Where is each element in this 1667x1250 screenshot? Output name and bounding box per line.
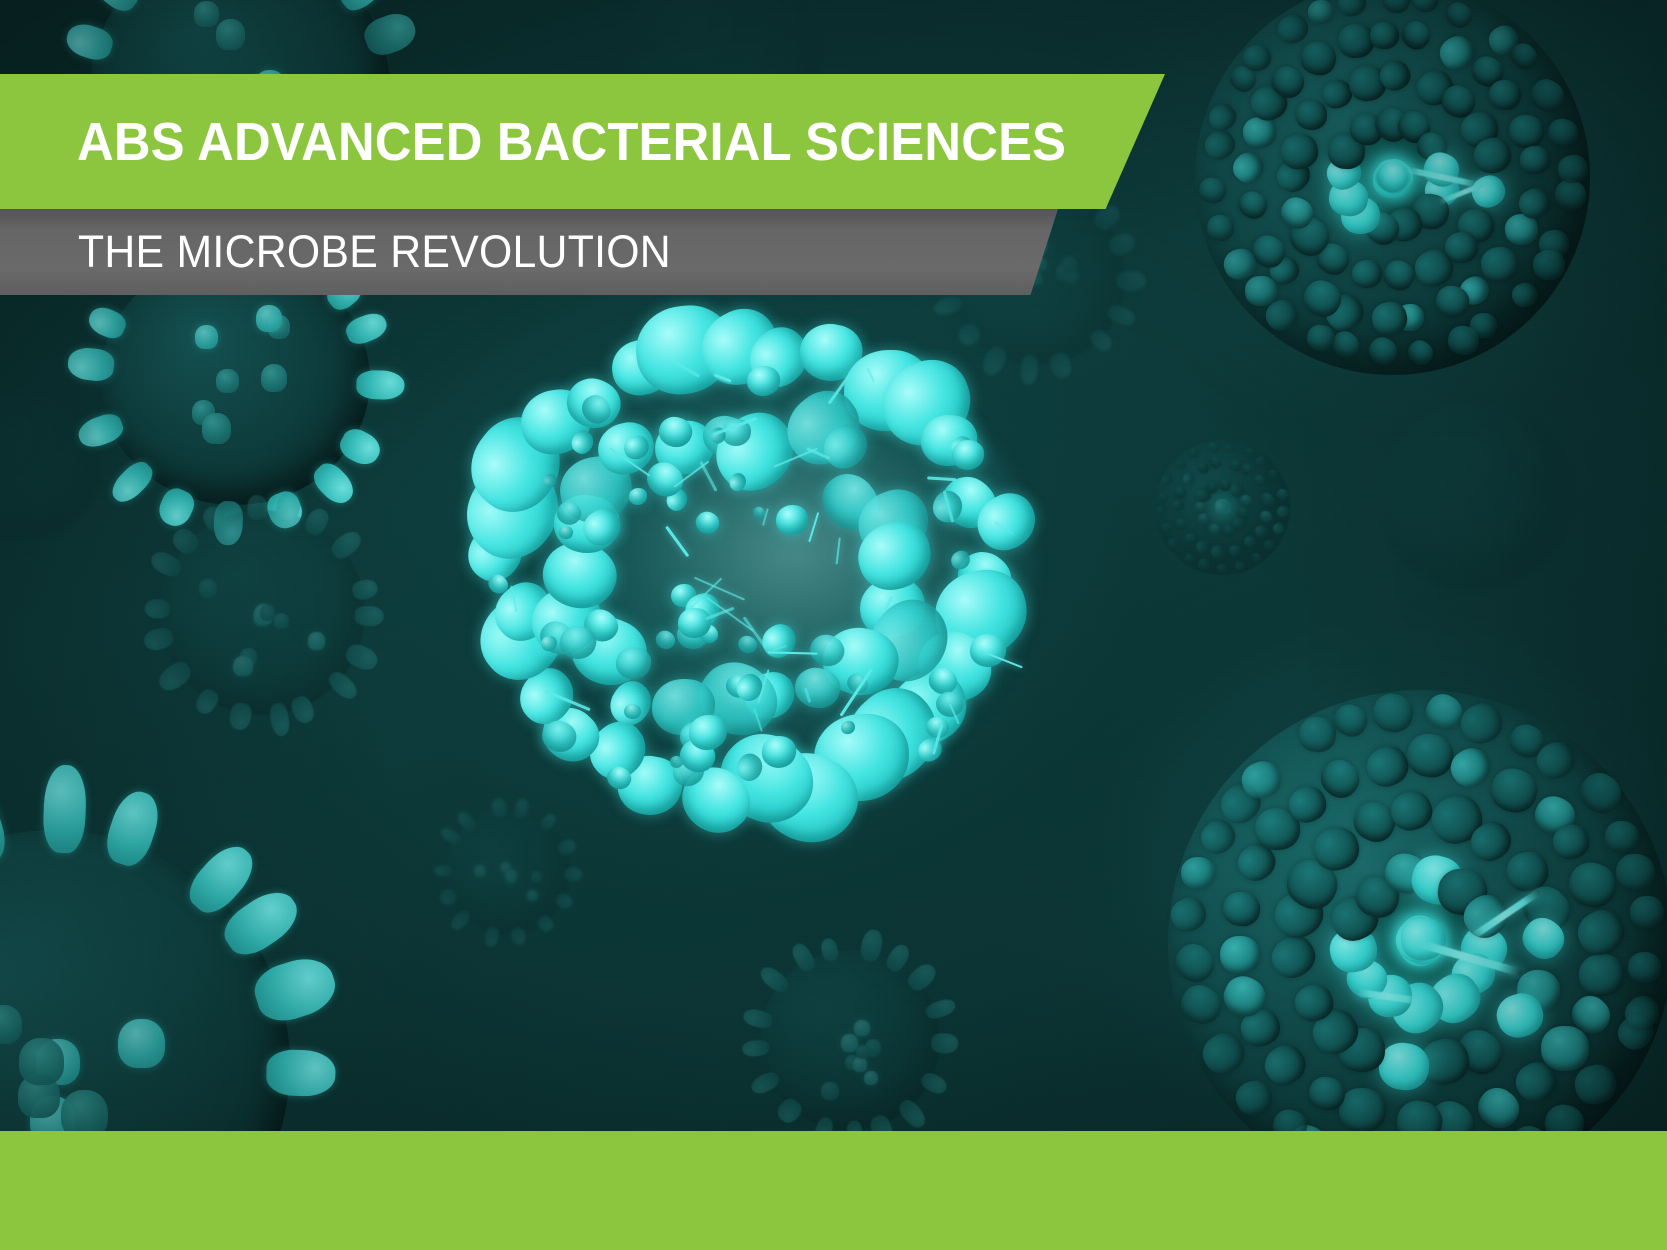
coronavirus-faint-far-left: [0, 390, 100, 540]
nodular-sphere-small-center-right: [1155, 440, 1290, 575]
page-title: ABS ADVANCED BACTERIAL SCIENCES: [77, 74, 1066, 209]
footer-bar: [0, 1131, 1667, 1250]
central-microbe: [430, 300, 1070, 840]
virus-core: [0, 390, 100, 540]
nodular-sphere-faint-right: [1380, 400, 1570, 590]
page-subtitle: THE MICROBE REVOLUTION: [78, 209, 671, 295]
coronavirus-bottom-center: [760, 950, 940, 1130]
presentation-slide: ABS ADVANCED BACTERIAL SCIENCES THE MICR…: [0, 0, 1667, 1250]
coronavirus-mid-left: [160, 510, 365, 715]
nodular-sphere-top-right: [1195, 0, 1590, 375]
sphere-core: [1380, 400, 1570, 590]
nodular-sphere-bottom-right: [1168, 690, 1667, 1195]
